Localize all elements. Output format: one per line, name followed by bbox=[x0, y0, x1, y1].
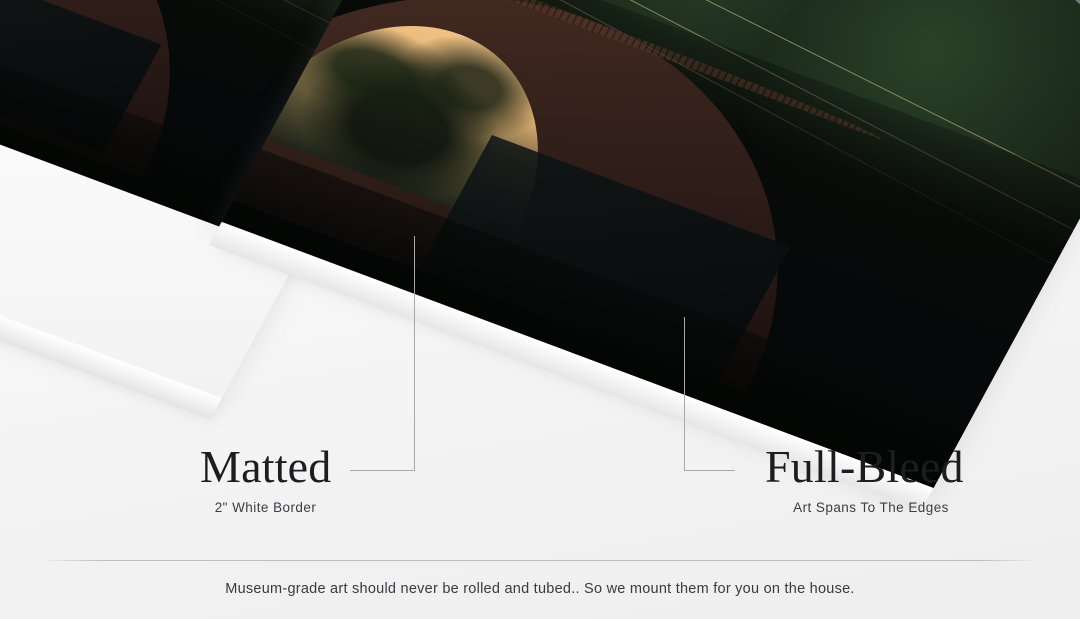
print-comparison-stage: Matted 2" White Border Full-Bleed Art Sp… bbox=[0, 0, 1080, 619]
callout-matted-subtitle: 2" White Border bbox=[200, 500, 331, 515]
callout-fullbleed-subtitle: Art Spans To The Edges bbox=[765, 500, 977, 515]
callout-fullbleed-title: Full-Bleed bbox=[765, 443, 977, 491]
callout-matted: Matted 2" White Border bbox=[200, 443, 332, 515]
fullbleed-print-sample bbox=[206, 0, 1080, 516]
leader-line-matted-horizontal bbox=[350, 470, 415, 471]
leader-line-fullbleed-horizontal bbox=[684, 470, 735, 471]
callout-fullbleed: Full-Bleed Art Spans To The Edges bbox=[765, 443, 977, 515]
callout-matted-title: Matted bbox=[200, 443, 332, 491]
footer-caption: Museum-grade art should never be rolled … bbox=[0, 581, 1080, 597]
footer-divider bbox=[40, 560, 1040, 561]
